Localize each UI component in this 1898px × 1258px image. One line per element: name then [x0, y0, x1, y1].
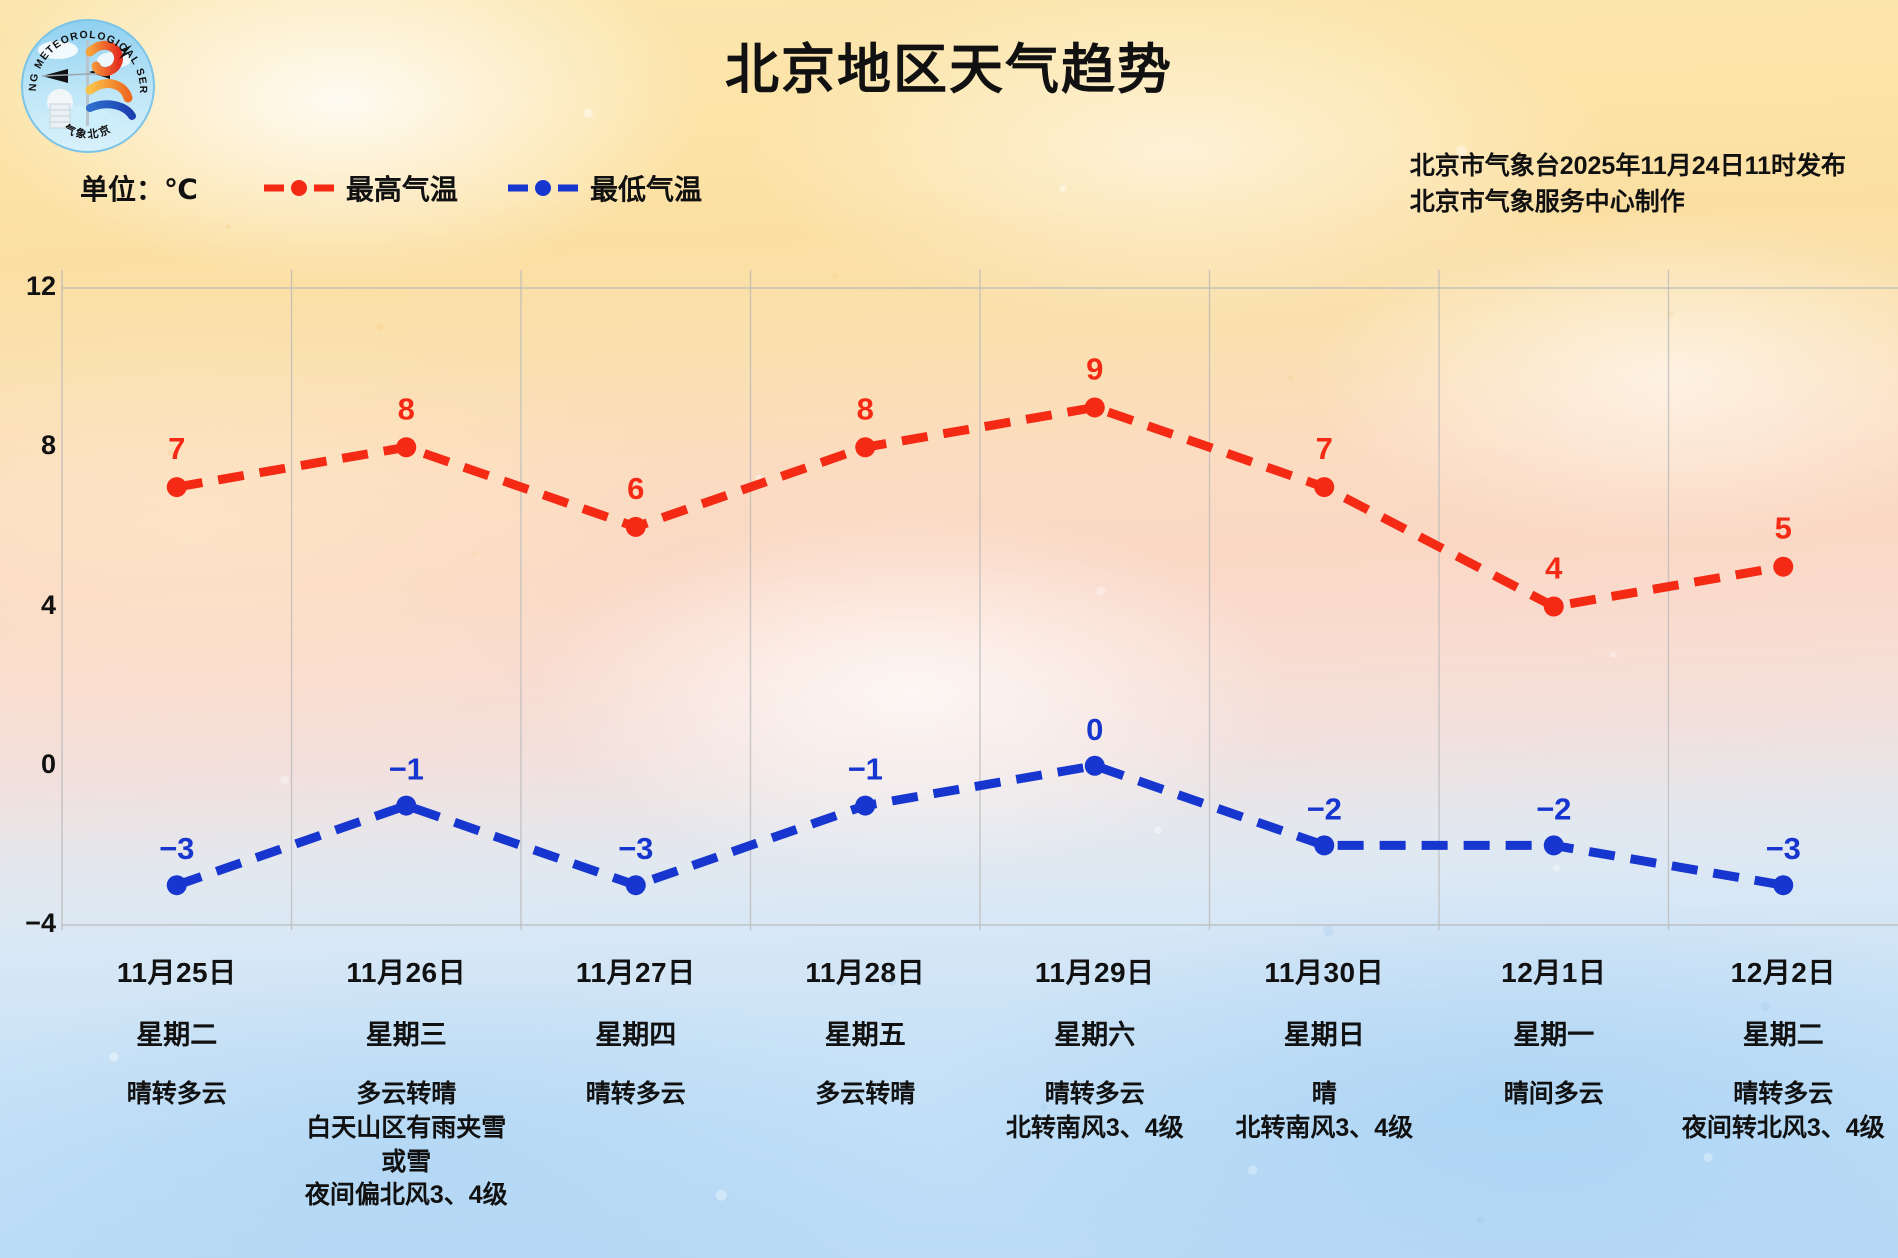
data-point-label: −3	[618, 831, 653, 866]
day-column: 11月28日星期五多云转晴	[751, 935, 981, 1255]
y-axis-tick: −4	[0, 908, 56, 939]
data-point	[626, 875, 646, 895]
day-description: 多云转晴白天山区有雨夹雪或雪夜间偏北风3、4级	[298, 1078, 516, 1213]
page-title: 北京地区天气趋势	[0, 25, 1898, 104]
data-point	[1544, 597, 1564, 617]
day-description-line: 晴转多云	[986, 1078, 1204, 1112]
y-axis-tick: 12	[0, 271, 56, 302]
data-point	[167, 875, 187, 895]
data-point	[1544, 835, 1564, 855]
day-description-line: 多云转晴	[298, 1078, 516, 1112]
y-axis-tick: 4	[0, 590, 56, 621]
legend-item-low: 最低气温	[506, 168, 702, 208]
day-description-line: 夜间转北风3、4级	[1675, 1112, 1893, 1146]
data-point-label: −1	[389, 752, 424, 787]
day-weekday: 星期二	[1675, 1013, 1893, 1052]
data-point	[855, 437, 875, 457]
data-point-label: 4	[1545, 551, 1563, 586]
day-date: 12月1日	[1445, 951, 1663, 991]
data-point	[855, 796, 875, 816]
data-point-label: 5	[1775, 511, 1792, 546]
data-point-label: −3	[1766, 831, 1801, 866]
data-point-label: 0	[1086, 712, 1103, 747]
day-date: 12月2日	[1675, 951, 1893, 991]
day-description: 晴转多云	[68, 1078, 286, 1112]
day-column: 12月2日星期二晴转多云夜间转北风3、4级	[1669, 935, 1898, 1255]
day-description-line: 晴	[1216, 1078, 1434, 1112]
data-point-label: −2	[1307, 791, 1342, 826]
day-forecast-columns: 11月25日星期二晴转多云11月26日星期三多云转晴白天山区有雨夹雪或雪夜间偏北…	[62, 935, 1898, 1255]
day-description-line: 晴转多云	[1675, 1078, 1893, 1112]
day-date: 11月29日	[986, 951, 1204, 991]
data-point	[1085, 397, 1105, 417]
legend-label-low: 最低气温	[590, 168, 702, 208]
day-description-line: 白天山区有雨夹雪或雪	[298, 1112, 516, 1180]
day-weekday: 星期日	[1216, 1013, 1434, 1052]
data-point	[167, 477, 187, 497]
data-point	[396, 437, 416, 457]
day-date: 11月27日	[527, 951, 745, 991]
day-description-line: 夜间偏北风3、4级	[298, 1179, 516, 1213]
day-description-line: 北转南风3、4级	[986, 1112, 1204, 1146]
data-point-label: 9	[1086, 351, 1103, 386]
high-temp-legend-marker	[262, 177, 336, 199]
data-point-label: 6	[627, 471, 644, 506]
day-weekday: 星期三	[298, 1013, 516, 1052]
legend-item-high: 最高气温	[262, 168, 458, 208]
data-point-label: −3	[159, 831, 194, 866]
low-temp-legend-marker	[506, 177, 580, 199]
issuer-line-2: 北京市气象服务中心制作	[1410, 184, 1846, 220]
day-description-line: 晴转多云	[68, 1078, 286, 1112]
day-column: 11月26日星期三多云转晴白天山区有雨夹雪或雪夜间偏北风3、4级	[292, 935, 522, 1255]
day-column: 11月25日星期二晴转多云	[62, 935, 292, 1255]
data-point	[1314, 835, 1334, 855]
data-point-label: 7	[1316, 431, 1333, 466]
issuer-info: 北京市气象台2025年11月24日11时发布 北京市气象服务中心制作	[1410, 148, 1846, 221]
day-description-line: 北转南风3、4级	[1216, 1112, 1434, 1146]
y-axis-tick: 8	[0, 430, 56, 461]
weather-trend-poster: BEIJING METEOROLOGICAL SERVICE 气象北京 北京地区…	[0, 0, 1898, 1258]
data-point-label: 7	[168, 431, 185, 466]
day-column: 11月30日星期日晴北转南风3、4级	[1210, 935, 1440, 1255]
data-point	[626, 517, 646, 537]
day-date: 11月25日	[68, 951, 286, 991]
y-axis-tick: 0	[0, 749, 56, 780]
day-description: 多云转晴	[757, 1078, 975, 1112]
day-description-line: 晴间多云	[1445, 1078, 1663, 1112]
data-point	[1314, 477, 1334, 497]
chart-legend: 单位：℃ 最高气温 最低气温	[80, 168, 702, 208]
data-point-label: −2	[1536, 791, 1571, 826]
day-column: 12月1日星期一晴间多云	[1439, 935, 1669, 1255]
day-description: 晴转多云	[527, 1078, 745, 1112]
data-point	[396, 796, 416, 816]
temperature-trend-chart: 78689745−3−1−3−10−2−2−3 12840−4	[0, 270, 1898, 930]
day-weekday: 星期二	[68, 1013, 286, 1052]
day-date: 11月26日	[298, 951, 516, 991]
data-point	[1773, 557, 1793, 577]
day-description: 晴间多云	[1445, 1078, 1663, 1112]
legend-label-high: 最高气温	[346, 168, 458, 208]
data-point-label: 8	[857, 391, 874, 426]
day-weekday: 星期一	[1445, 1013, 1663, 1052]
data-point	[1085, 756, 1105, 776]
day-description: 晴转多云夜间转北风3、4级	[1675, 1078, 1893, 1146]
issuer-line-1: 北京市气象台2025年11月24日11时发布	[1410, 148, 1846, 184]
day-weekday: 星期四	[527, 1013, 745, 1052]
day-description-line: 晴转多云	[527, 1078, 745, 1112]
data-point	[1773, 875, 1793, 895]
day-weekday: 星期五	[757, 1013, 975, 1052]
chart-plot-svg: 78689745−3−1−3−10−2−2−3	[0, 270, 1898, 930]
day-column: 11月27日星期四晴转多云	[521, 935, 751, 1255]
day-description: 晴转多云北转南风3、4级	[986, 1078, 1204, 1146]
day-column: 11月29日星期六晴转多云北转南风3、4级	[980, 935, 1210, 1255]
data-point-label: −1	[848, 752, 883, 787]
day-description-line: 多云转晴	[757, 1078, 975, 1112]
unit-label: 单位：℃	[80, 168, 198, 208]
data-point-label: 8	[398, 391, 415, 426]
day-date: 11月28日	[757, 951, 975, 991]
day-description: 晴北转南风3、4级	[1216, 1078, 1434, 1146]
chart-gridlines	[292, 270, 1669, 930]
day-date: 11月30日	[1216, 951, 1434, 991]
day-weekday: 星期六	[986, 1013, 1204, 1052]
